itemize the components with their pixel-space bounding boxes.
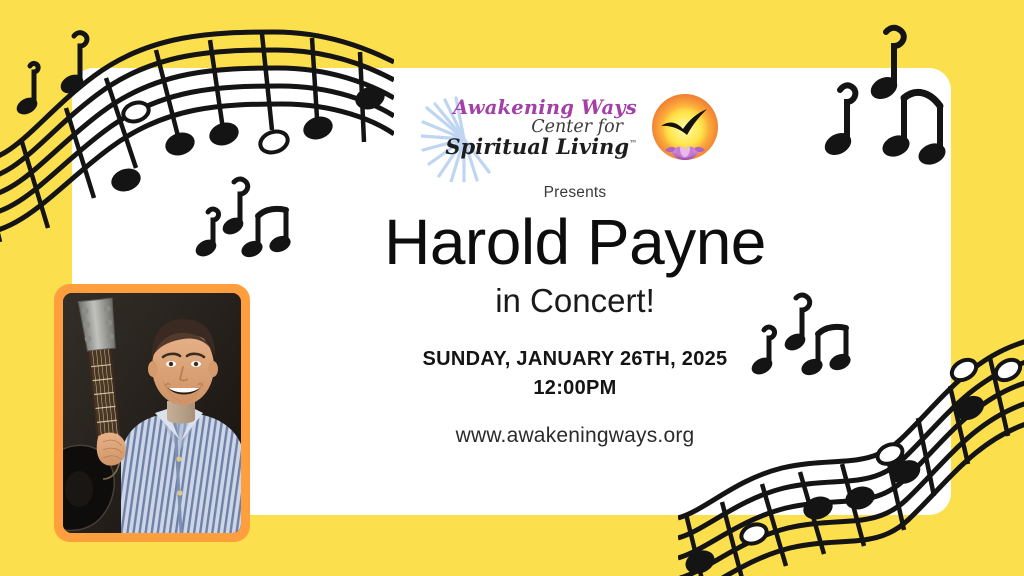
concert-flyer: Awakening Ways Center for Spiritual Livi… — [0, 0, 1024, 576]
artist-name: Harold Payne — [255, 210, 895, 275]
artist-photo — [63, 293, 241, 533]
trademark-symbol: ™ — [629, 139, 637, 148]
organization-logo: Awakening Ways Center for Spiritual Livi… — [255, 80, 895, 176]
website-url[interactable]: www.awakeningways.org — [255, 424, 895, 448]
artist-photo-frame — [54, 284, 250, 542]
logo-line-3: Spiritual Living™ — [427, 136, 637, 158]
artist-portrait-illustration — [63, 293, 241, 533]
event-time: 12:00PM — [255, 377, 895, 400]
event-subtitle: in Concert! — [255, 283, 895, 319]
event-date: SUNDAY, JANUARY 26TH, 2025 — [255, 348, 895, 371]
sun-bird-lotus-emblem-icon — [647, 90, 723, 166]
presents-label: Presents — [255, 184, 895, 202]
logo-line-1: Awakening Ways — [427, 98, 637, 118]
logo-wordmark: Awakening Ways Center for Spiritual Livi… — [427, 98, 643, 158]
flyer-content: Awakening Ways Center for Spiritual Livi… — [255, 80, 895, 448]
